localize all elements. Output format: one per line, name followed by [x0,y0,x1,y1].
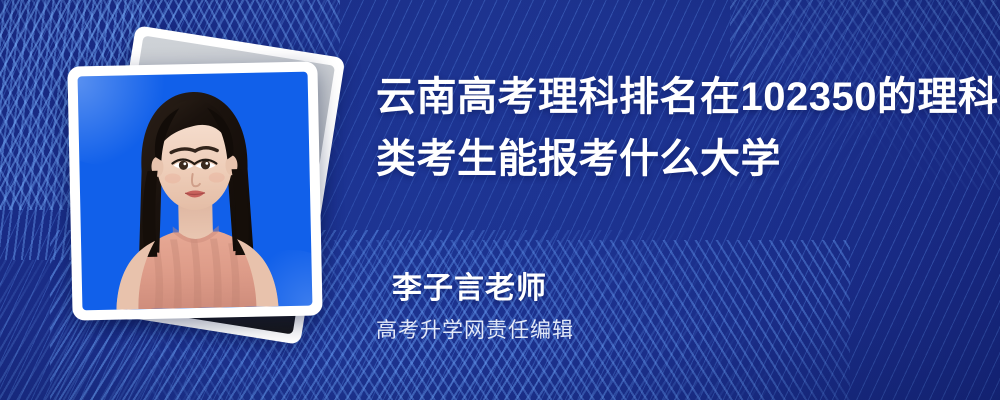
author-role: 高考升学网责任编辑 [376,318,574,344]
author-portrait-photo [78,72,313,311]
avatar [78,72,313,311]
page-title: 云南高考理科排名在102350的理科 类考生能报考什么大学 [376,66,962,190]
page-title-line-2: 类考生能报考什么大学 [376,128,962,190]
author-portrait-card [67,61,322,320]
banner-text-column: 云南高考理科排名在102350的理科 类考生能报考什么大学 李子言老师 高考升学… [376,0,976,400]
author-name: 李子言老师 [392,272,547,306]
photo-card-stack [0,0,400,400]
page-title-line-1: 云南高考理科排名在102350的理科 [376,66,962,128]
article-hero-banner: 云南高考理科排名在102350的理科 类考生能报考什么大学 李子言老师 高考升学… [0,0,1000,400]
